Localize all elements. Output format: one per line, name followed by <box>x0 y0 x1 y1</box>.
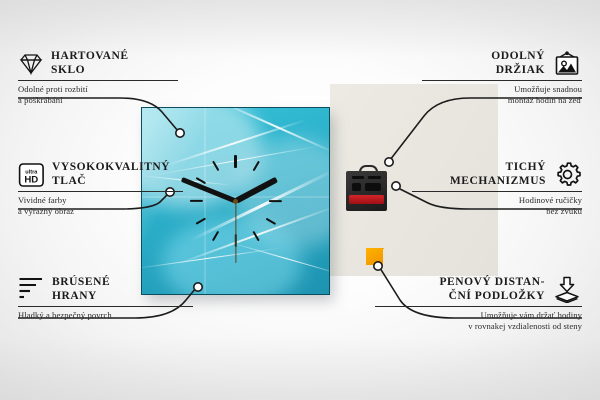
feature-title-line1: TICHÝ <box>450 161 546 175</box>
feature-title-line2: HRANY <box>52 290 110 304</box>
connector-endpoint <box>385 158 393 166</box>
feature-divider <box>18 306 193 307</box>
feature-title-line1: ODOLNÝ <box>491 50 545 64</box>
feature-title-line2: TLAČ <box>52 175 170 189</box>
feature-title-line2: DRŽIAK <box>491 64 545 78</box>
feature-desc-line2: a výrazný obraz <box>18 206 183 217</box>
feature-hq-print: ultra HD VYSOKOKVALITNÝ TLAČ Vividné far… <box>18 161 183 216</box>
feature-desc-line2: bez zvuku <box>412 206 582 217</box>
feature-title-line2: SKLO <box>51 64 129 78</box>
diagonal-lines-icon <box>18 277 45 302</box>
feature-ground-edges: BRÚSENÉ HRANY Hladký a bezpečný povrch <box>18 276 193 321</box>
feature-desc-line2: v rovnakej vzdialenosti od steny <box>375 321 582 332</box>
ultra-hd-badge-icon: ultra HD <box>18 162 45 188</box>
feature-title-line1: HARTOVANÉ <box>51 50 129 64</box>
feature-desc-line1: Hodinové ručičky <box>412 195 582 206</box>
feature-title-line2: ČNÍ PODLOŽKY <box>439 290 545 304</box>
connector-endpoint <box>176 129 184 137</box>
feature-desc-line2: a poškrábání <box>18 95 178 106</box>
feature-tempered-glass: HARTOVANÉ SKLO Odolné proti rozbití a po… <box>18 50 178 105</box>
infographic-canvas: HARTOVANÉ SKLO Odolné proti rozbití a po… <box>0 0 600 400</box>
feature-divider <box>18 191 183 192</box>
connector-endpoint <box>374 262 382 270</box>
feature-durable-holder: ODOLNÝ DRŽIAK Umožňuje snadnou montáž ho… <box>422 50 582 105</box>
feature-divider <box>375 306 582 307</box>
feature-desc-line1: Umožňuje snadnou <box>422 84 582 95</box>
feature-divider <box>18 80 178 81</box>
feature-desc-line2: montáž hodin na zeď <box>422 95 582 106</box>
feature-desc-line1: Odolné proti rozbití <box>18 84 178 95</box>
svg-text:HD: HD <box>24 174 38 185</box>
arrow-into-layers-icon <box>552 276 582 303</box>
feature-title-line1: PENOVÝ DISTAN- <box>439 276 545 290</box>
feature-title-line2: MECHANIZMUS <box>450 175 546 189</box>
feature-title-line1: BRÚSENÉ <box>52 276 110 290</box>
picture-frame-hanger-icon <box>552 51 582 77</box>
feature-divider <box>422 80 582 81</box>
gear-icon <box>553 161 582 188</box>
diamond-icon <box>18 53 44 75</box>
feature-desc-line1: Hladký a bezpečný povrch <box>18 310 193 321</box>
connector-endpoint <box>194 283 202 291</box>
connector-endpoint <box>392 182 400 190</box>
feature-foam-spacers: PENOVÝ DISTAN- ČNÍ PODLOŽKY Umožňuje vám… <box>375 276 582 331</box>
feature-title-line1: VYSOKOKVALITNÝ <box>52 161 170 175</box>
feature-desc-line1: Umožňuje vám držať hodiny <box>375 310 582 321</box>
feature-desc-line1: Vividné farby <box>18 195 183 206</box>
feature-silent-mechanism: TICHÝ MECHANIZMUS Hodinové ručičky bez z… <box>412 161 582 216</box>
feature-divider <box>412 191 582 192</box>
